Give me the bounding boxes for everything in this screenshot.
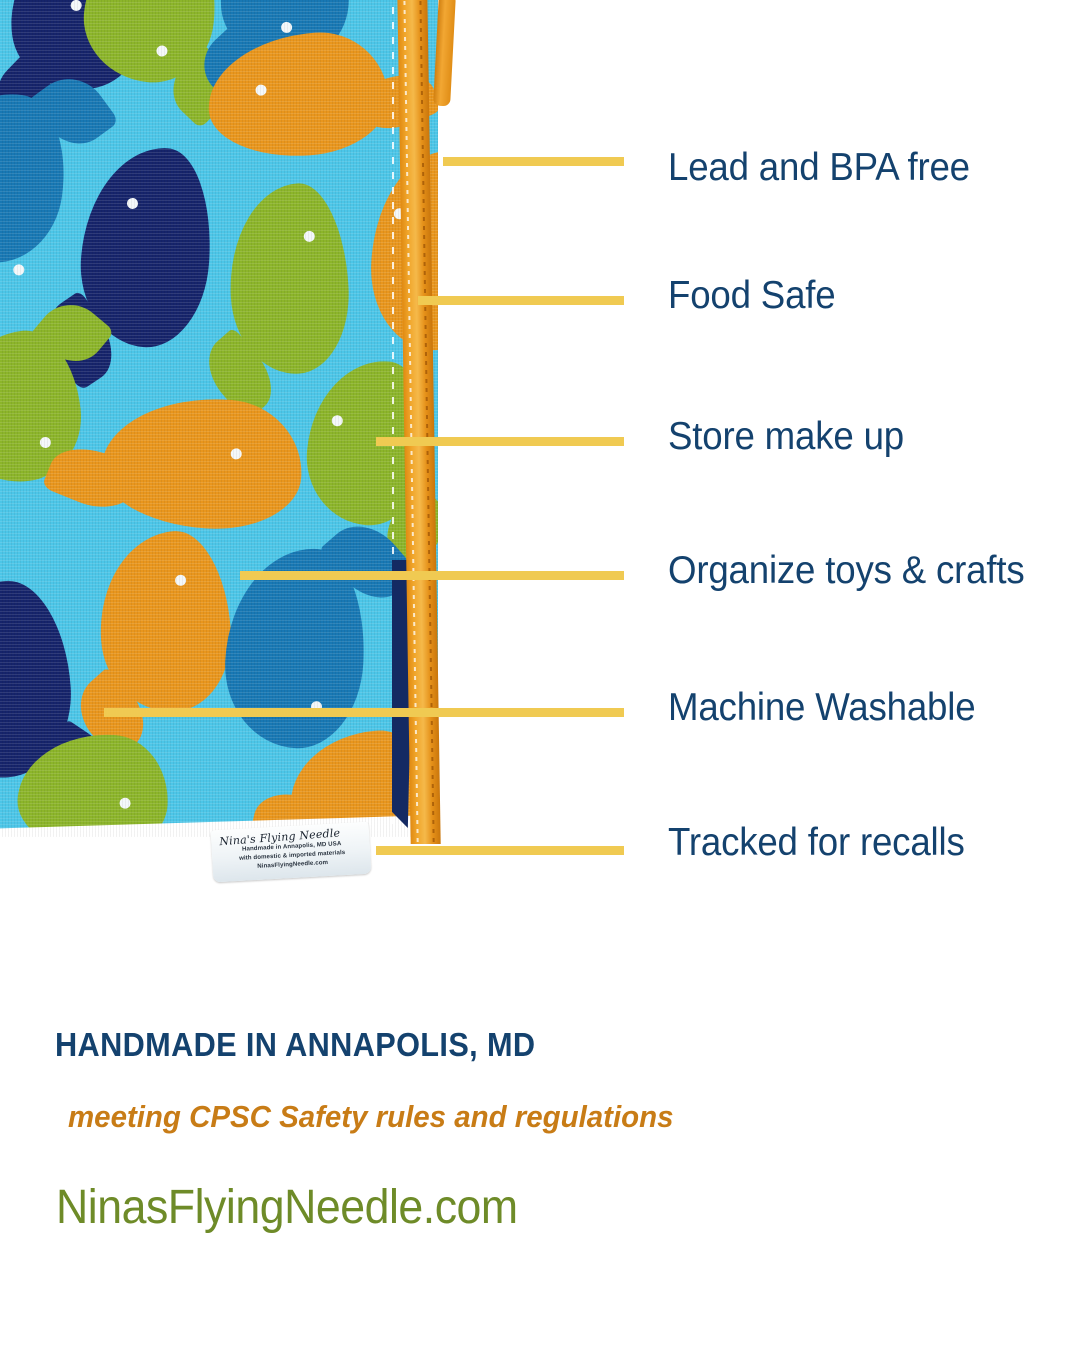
feature-label: Store make up bbox=[668, 417, 904, 456]
whale-icon bbox=[15, 730, 171, 837]
feature-label: Organize toys & crafts bbox=[668, 551, 1024, 590]
care-label-tag: Nina's Flying Needle Handmade in Annapol… bbox=[211, 822, 372, 883]
whale-icon bbox=[225, 181, 353, 377]
feature-label: Tracked for recalls bbox=[668, 823, 965, 862]
feature-connector-bar bbox=[376, 846, 624, 855]
whale-icon bbox=[0, 83, 75, 271]
footer-subheading: meeting CPSC Safety rules and regulation… bbox=[68, 1099, 674, 1135]
whale-eye bbox=[13, 264, 25, 276]
footer-heading: HANDMADE IN ANNAPOLIS, MD bbox=[55, 1026, 535, 1064]
whale-icon bbox=[204, 28, 392, 162]
feature-label: Lead and BPA free bbox=[668, 148, 970, 187]
feature-connector-bar bbox=[443, 157, 624, 166]
feature-connector-bar bbox=[104, 708, 624, 717]
whale-icon bbox=[94, 528, 236, 717]
feature-label: Food Safe bbox=[668, 276, 835, 315]
feature-label: Machine Washable bbox=[668, 688, 975, 727]
feature-connector-bar bbox=[376, 437, 624, 446]
whale-icon bbox=[98, 391, 307, 535]
footer-website-url[interactable]: NinasFlyingNeedle.com bbox=[56, 1180, 518, 1235]
feature-connector-bar bbox=[418, 296, 624, 305]
feature-connector-bar bbox=[240, 571, 624, 580]
whale-icon bbox=[78, 0, 223, 88]
